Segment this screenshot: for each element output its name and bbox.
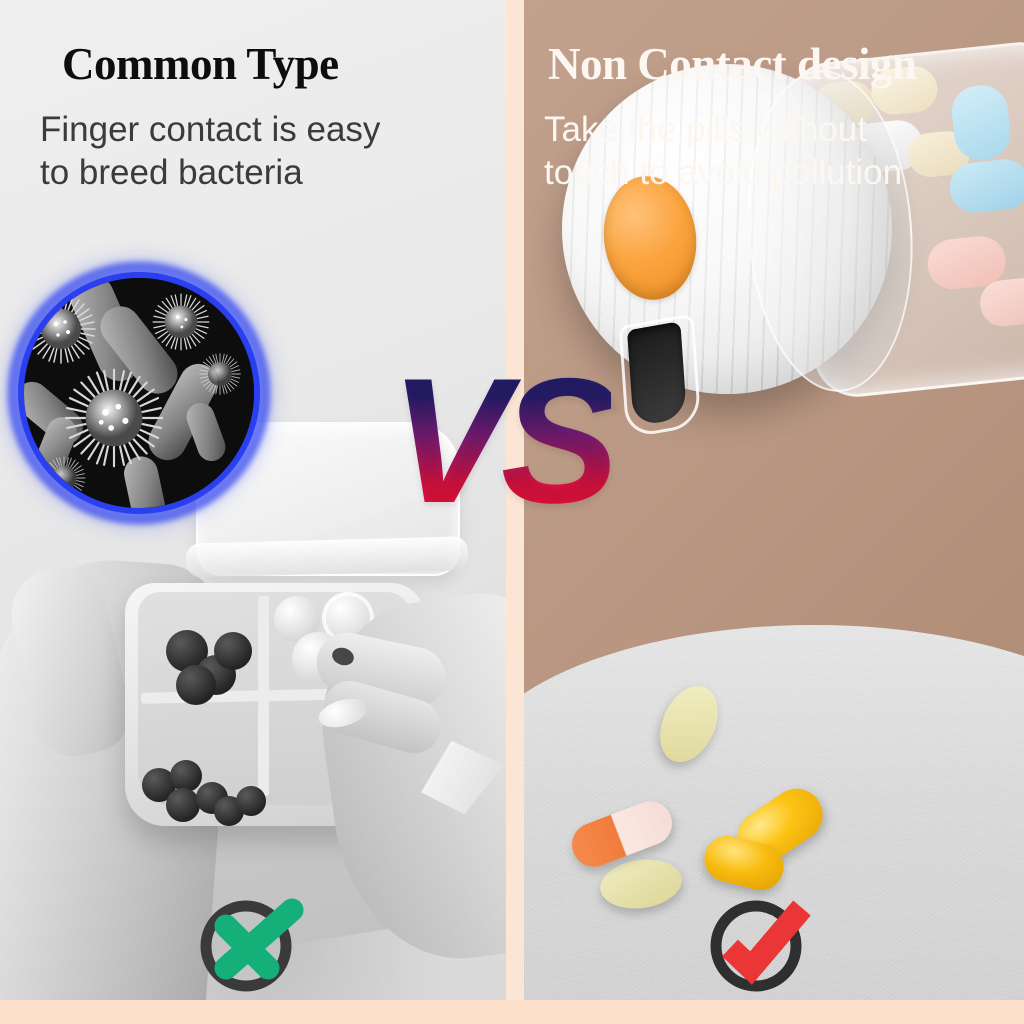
left-subtitle: Finger contact is easy to breed bacteria <box>0 87 506 194</box>
right-subtitle-line-2: touch to avoid pollution <box>544 153 902 192</box>
bacteria-magnifier <box>8 262 270 524</box>
dispensing-slot-edge <box>619 313 702 439</box>
comparison-infographic: Common Type Finger contact is easy to br… <box>0 0 1024 1024</box>
right-subtitle: Take the pills without touch to avoid po… <box>524 87 1024 194</box>
check-badge <box>706 892 818 996</box>
bottom-frame-border <box>0 1000 1024 1024</box>
right-header: Non Contact design Take the pills withou… <box>524 0 1024 194</box>
pill-dark <box>170 760 202 792</box>
left-subtitle-line-1: Finger contact is easy <box>40 110 380 149</box>
versus-label: VS <box>390 352 611 530</box>
pill-dark <box>214 632 252 670</box>
pill-dark <box>236 786 266 816</box>
cross-badge <box>196 892 308 996</box>
bacteria-disc <box>24 278 254 508</box>
right-title: Non Contact design <box>524 0 1024 87</box>
left-subtitle-line-2: to breed bacteria <box>40 153 303 192</box>
left-header: Common Type Finger contact is easy to br… <box>0 0 506 194</box>
right-subtitle-line-1: Take the pills without <box>544 110 867 149</box>
left-title: Common Type <box>0 0 506 87</box>
pill-dark <box>176 665 216 705</box>
pill-dark <box>166 788 200 822</box>
